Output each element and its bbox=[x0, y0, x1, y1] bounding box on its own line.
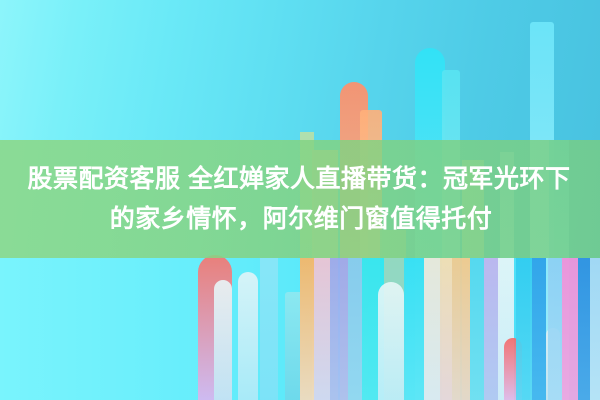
skyline-bar bbox=[590, 258, 600, 400]
skyline-bar bbox=[516, 258, 532, 400]
skyline-bar bbox=[404, 258, 424, 400]
skyline-bar bbox=[214, 280, 232, 400]
skyline-bar bbox=[330, 258, 348, 400]
skyline-bar bbox=[424, 258, 440, 400]
skyline-bar bbox=[348, 258, 362, 400]
promo-banner: 股票配资客服 全红婵家人直播带货：冠军光环下 的家乡情怀，阿尔维门窗值得托付 bbox=[0, 0, 600, 400]
skyline-bar bbox=[548, 258, 562, 400]
skyline-bar bbox=[238, 272, 258, 400]
skyline-bar bbox=[260, 258, 278, 400]
skyline-bar bbox=[300, 258, 314, 400]
headline-line-2: 的家乡情怀，阿尔维门窗值得托付 bbox=[108, 201, 493, 237]
skyline-bar bbox=[578, 258, 590, 400]
skyline-bar bbox=[470, 258, 484, 400]
skyline-bar bbox=[532, 258, 546, 400]
headline-container: 股票配资客服 全红婵家人直播带货：冠军光环下 的家乡情怀，阿尔维门窗值得托付 bbox=[0, 140, 600, 258]
headline-line-1: 股票配资客服 全红婵家人直播带货：冠军光环下 bbox=[28, 161, 573, 197]
skyline-bar bbox=[562, 258, 578, 400]
skyline-bar bbox=[452, 258, 470, 400]
skyline-bar bbox=[440, 258, 452, 400]
skyline-bar bbox=[378, 282, 404, 400]
skyline-bar bbox=[314, 258, 330, 400]
